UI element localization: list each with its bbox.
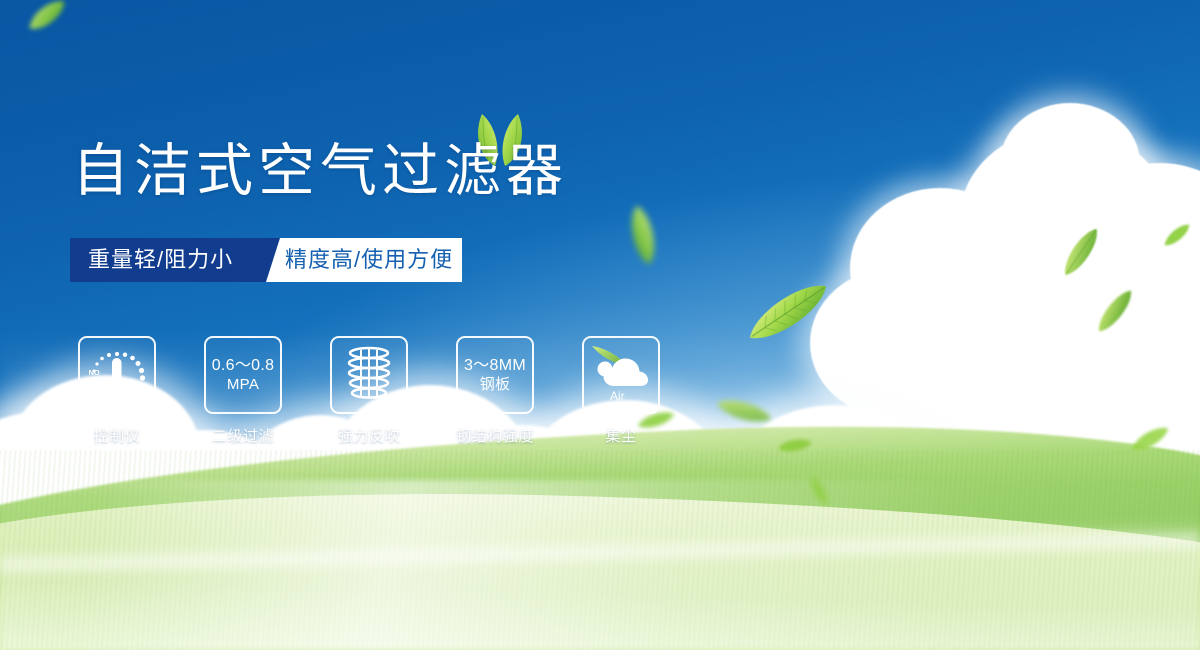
feature-list: NO OFF 控制仪 0.6～0.8 MPA 二级过滤 bbox=[78, 336, 660, 446]
feature-item-secondary-filter[interactable]: 0.6～0.8 MPA 二级过滤 bbox=[204, 336, 282, 446]
pressure-text-icon: 0.6～0.8 MPA bbox=[212, 357, 275, 394]
feature-item-reverse-blow[interactable]: 强力反吹 bbox=[330, 336, 408, 446]
feature-label: 强力反吹 bbox=[338, 425, 400, 446]
feature-item-control-gauge[interactable]: NO OFF 控制仪 bbox=[78, 336, 156, 446]
feature-label: 集尘 bbox=[605, 425, 636, 446]
pressure-value: 0.6～0.8 bbox=[212, 357, 275, 374]
gauge-no-label: NO bbox=[89, 368, 100, 377]
cloud-shape bbox=[604, 359, 649, 387]
feature-label: 钢结构强度 bbox=[456, 425, 534, 446]
gauge-off-label: OFF bbox=[125, 391, 140, 400]
feature-box: 0.6～0.8 MPA bbox=[204, 336, 282, 414]
pressure-unit: MPA bbox=[212, 376, 275, 394]
steel-text-icon: 3～8MM 钢板 bbox=[464, 357, 526, 394]
cloud-air-icon: Air bbox=[588, 344, 654, 406]
feature-label: 控制仪 bbox=[94, 425, 141, 446]
feature-box bbox=[330, 336, 408, 414]
steel-value: 3～8MM bbox=[464, 357, 526, 374]
tagline-badge: 重量轻/阻力小 精度高/使用方便 bbox=[70, 238, 462, 282]
steel-material: 钢板 bbox=[464, 376, 526, 394]
feature-box: 3～8MM 钢板 bbox=[456, 336, 534, 414]
product-banner: 自洁式空气过滤器 重量轻/阻力小 精度高/使用方便 bbox=[0, 0, 1200, 650]
feature-item-steel-strength[interactable]: 3～8MM 钢板 钢结构强度 bbox=[456, 336, 534, 446]
tagline-left-text: 重量轻/阻力小 bbox=[88, 238, 233, 282]
cloud-air-label: Air bbox=[610, 389, 625, 403]
filter-stack-icon bbox=[342, 345, 396, 405]
gauge-icon: NO OFF bbox=[86, 346, 148, 404]
tagline-right-text: 精度高/使用方便 bbox=[285, 238, 453, 282]
feature-box: Air bbox=[582, 336, 660, 414]
feature-item-dust-collection[interactable]: Air 集尘 bbox=[582, 336, 660, 446]
feature-label: 二级过滤 bbox=[212, 425, 274, 446]
banner-content: 自洁式空气过滤器 重量轻/阻力小 精度高/使用方便 bbox=[0, 0, 1200, 650]
feature-box: NO OFF bbox=[78, 336, 156, 414]
page-title: 自洁式空气过滤器 bbox=[72, 143, 568, 200]
